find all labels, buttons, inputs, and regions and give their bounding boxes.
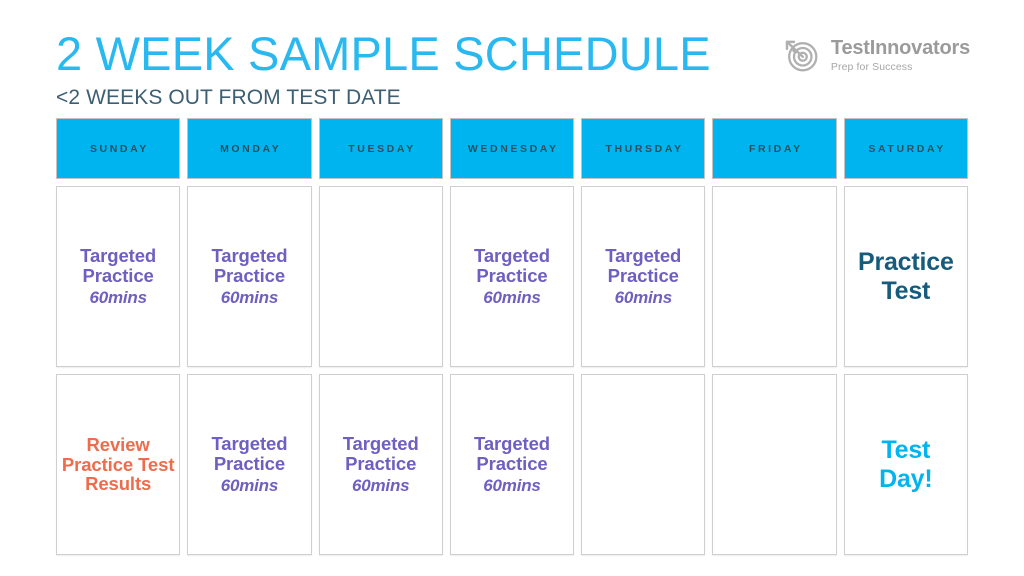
entry-duration: 60mins	[80, 289, 156, 307]
page-title: 2 WEEK SAMPLE SCHEDULE	[56, 28, 711, 80]
entry-line-2: Practice	[80, 266, 156, 286]
page-header: 2 WEEK SAMPLE SCHEDULE <2 WEEKS OUT FROM…	[0, 0, 1024, 118]
day-header-wednesday: WEDNESDAY	[450, 118, 574, 179]
entry-line-2: Practice	[343, 454, 419, 474]
entry-line-1: Targeted	[474, 434, 550, 454]
day-header-sunday: SUNDAY	[56, 118, 180, 179]
day-header-label: TUESDAY	[346, 143, 416, 155]
entry-line-2: Practice	[211, 454, 287, 474]
cell-week1-friday[interactable]	[712, 186, 836, 367]
entry-targeted-practice: Targeted Practice 60mins	[474, 246, 550, 306]
brand-logo-text: TestInnovators Prep for Success	[831, 37, 970, 74]
cell-week2-tuesday[interactable]: Targeted Practice 60mins	[319, 374, 443, 555]
entry-line-1: Targeted	[343, 434, 419, 454]
cell-week2-monday[interactable]: Targeted Practice 60mins	[187, 374, 311, 555]
day-header-saturday: SATURDAY	[844, 118, 968, 179]
entry-duration: 60mins	[343, 477, 419, 495]
cell-week1-wednesday[interactable]: Targeted Practice 60mins	[450, 186, 574, 367]
day-header-label: SUNDAY	[87, 143, 149, 155]
entry-line-2: Practice	[474, 266, 550, 286]
entry-review-practice-test-results: Review Practice Test Results	[62, 435, 175, 494]
target-bullseye-arrow-icon	[780, 34, 822, 76]
entry-targeted-practice: Targeted Practice 60mins	[211, 246, 287, 306]
entry-line-2: Practice	[211, 266, 287, 286]
entry-line-1: Targeted	[211, 246, 287, 266]
entry-test-day: Test Day!	[879, 436, 932, 494]
entry-line-2: Test	[858, 277, 954, 306]
entry-line-1: Targeted	[605, 246, 681, 266]
brand-tagline: Prep for Success	[831, 60, 970, 74]
entry-line-2: Practice	[605, 266, 681, 286]
cell-week2-friday[interactable]	[712, 374, 836, 555]
schedule-page: 2 WEEK SAMPLE SCHEDULE <2 WEEKS OUT FROM…	[0, 0, 1024, 576]
entry-line-1: Practice	[858, 248, 954, 277]
cell-week2-sunday[interactable]: Review Practice Test Results	[56, 374, 180, 555]
calendar-header-row: SUNDAY MONDAY TUESDAY WEDNESDAY THURSDAY…	[56, 118, 968, 179]
cell-week1-sunday[interactable]: Targeted Practice 60mins	[56, 186, 180, 367]
week-1-row: Targeted Practice 60mins Targeted Practi…	[56, 186, 968, 367]
entry-targeted-practice: Targeted Practice 60mins	[474, 434, 550, 494]
brand-name: TestInnovators	[831, 37, 970, 59]
entry-duration: 60mins	[474, 289, 550, 307]
cell-week2-thursday[interactable]	[581, 374, 705, 555]
day-header-monday: MONDAY	[187, 118, 311, 179]
entry-line-2: Day!	[879, 465, 932, 494]
entry-line-1: Targeted	[474, 246, 550, 266]
cell-week1-tuesday[interactable]	[319, 186, 443, 367]
cell-week1-thursday[interactable]: Targeted Practice 60mins	[581, 186, 705, 367]
day-header-label: THURSDAY	[603, 143, 684, 155]
entry-line-2: Practice	[474, 454, 550, 474]
entry-line-1: Review	[62, 435, 175, 455]
day-header-label: WEDNESDAY	[465, 143, 558, 155]
day-header-label: SATURDAY	[866, 143, 946, 155]
day-header-tuesday: TUESDAY	[319, 118, 443, 179]
brand-logo: TestInnovators Prep for Success	[780, 34, 970, 76]
entry-duration: 60mins	[605, 289, 681, 307]
day-header-label: MONDAY	[217, 143, 281, 155]
cell-week1-saturday[interactable]: Practice Test	[844, 186, 968, 367]
entry-line-1: Test	[879, 436, 932, 465]
entry-line-3: Results	[62, 474, 175, 494]
entry-duration: 60mins	[211, 289, 287, 307]
entry-duration: 60mins	[211, 477, 287, 495]
entry-line-1: Targeted	[80, 246, 156, 266]
entry-duration: 60mins	[474, 477, 550, 495]
schedule-calendar: SUNDAY MONDAY TUESDAY WEDNESDAY THURSDAY…	[56, 118, 968, 555]
entry-targeted-practice: Targeted Practice 60mins	[211, 434, 287, 494]
page-subtitle: <2 WEEKS OUT FROM TEST DATE	[56, 86, 401, 110]
cell-week1-monday[interactable]: Targeted Practice 60mins	[187, 186, 311, 367]
day-header-label: FRIDAY	[746, 143, 802, 155]
week-2-row: Review Practice Test Results Targeted Pr…	[56, 374, 968, 555]
entry-line-2: Practice Test	[62, 455, 175, 475]
entry-targeted-practice: Targeted Practice 60mins	[605, 246, 681, 306]
entry-targeted-practice: Targeted Practice 60mins	[343, 434, 419, 494]
cell-week2-wednesday[interactable]: Targeted Practice 60mins	[450, 374, 574, 555]
entry-targeted-practice: Targeted Practice 60mins	[80, 246, 156, 306]
cell-week2-saturday[interactable]: Test Day!	[844, 374, 968, 555]
entry-practice-test: Practice Test	[858, 248, 954, 306]
day-header-friday: FRIDAY	[712, 118, 836, 179]
entry-line-1: Targeted	[211, 434, 287, 454]
day-header-thursday: THURSDAY	[581, 118, 705, 179]
